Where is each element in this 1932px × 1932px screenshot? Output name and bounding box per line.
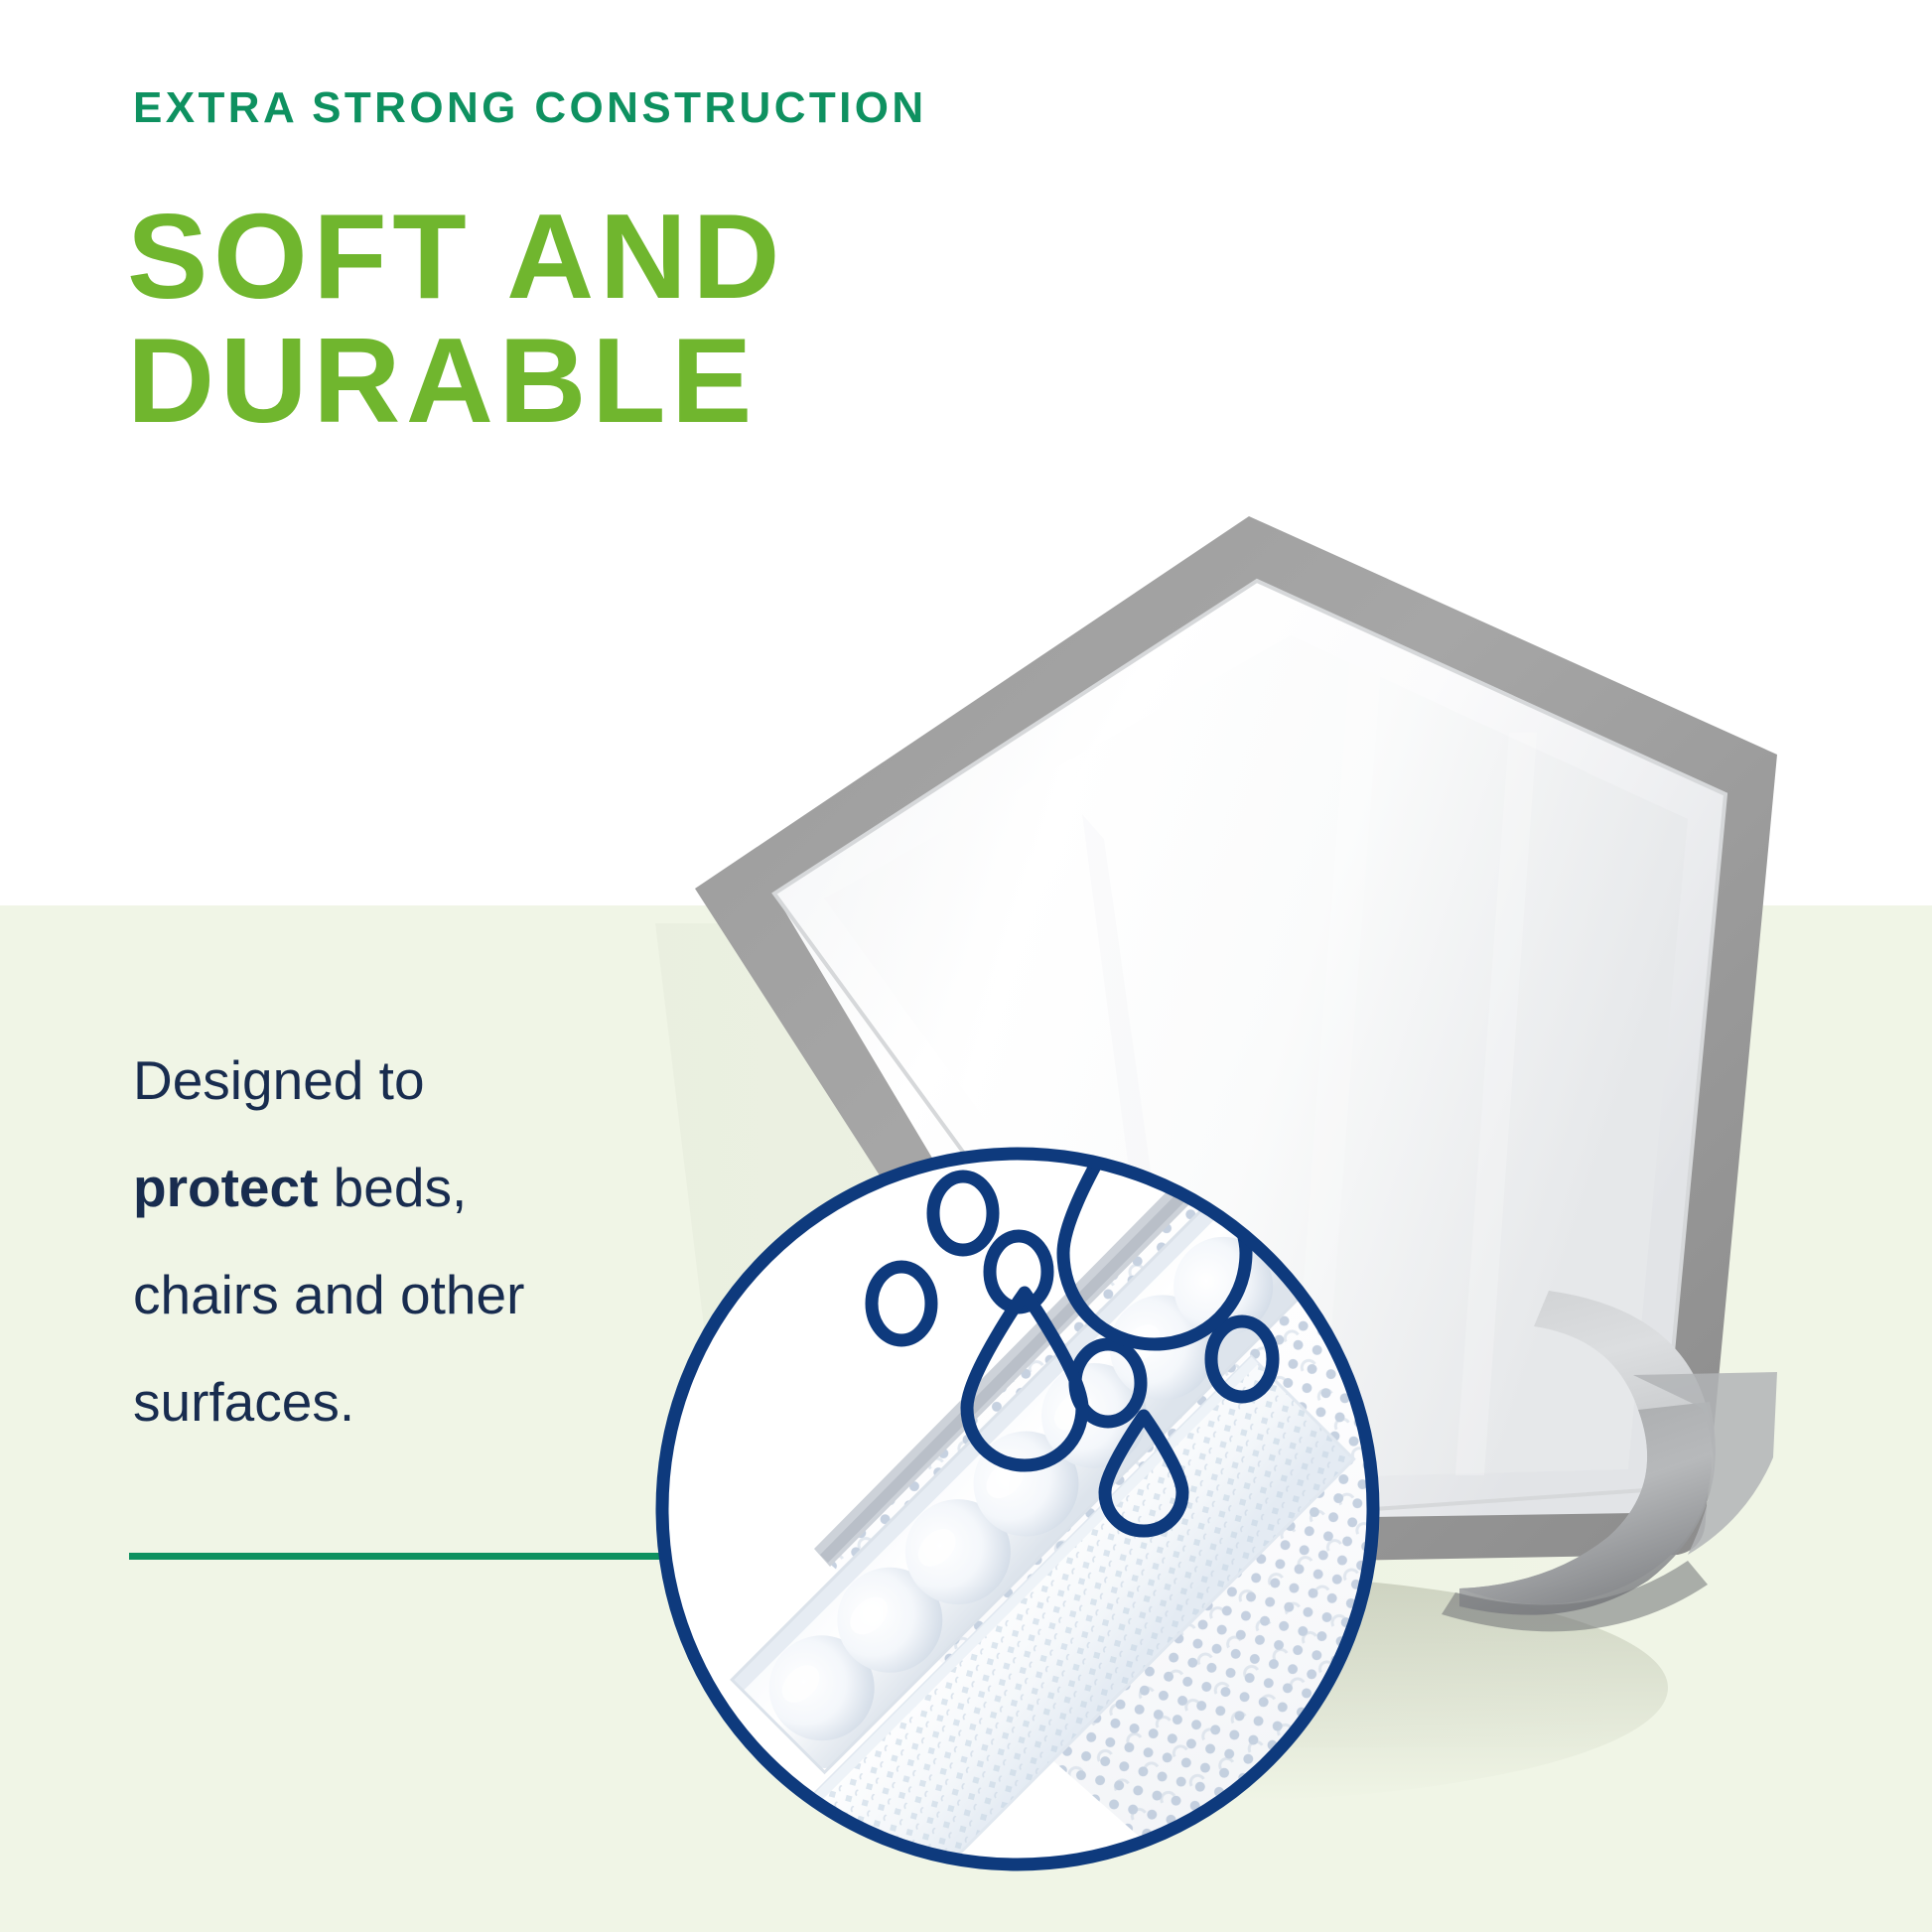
- detail-callout-circle: [0, 0, 1932, 1932]
- marketing-graphic: EXTRA STRONG CONSTRUCTION SOFT AND DURAB…: [0, 0, 1932, 1932]
